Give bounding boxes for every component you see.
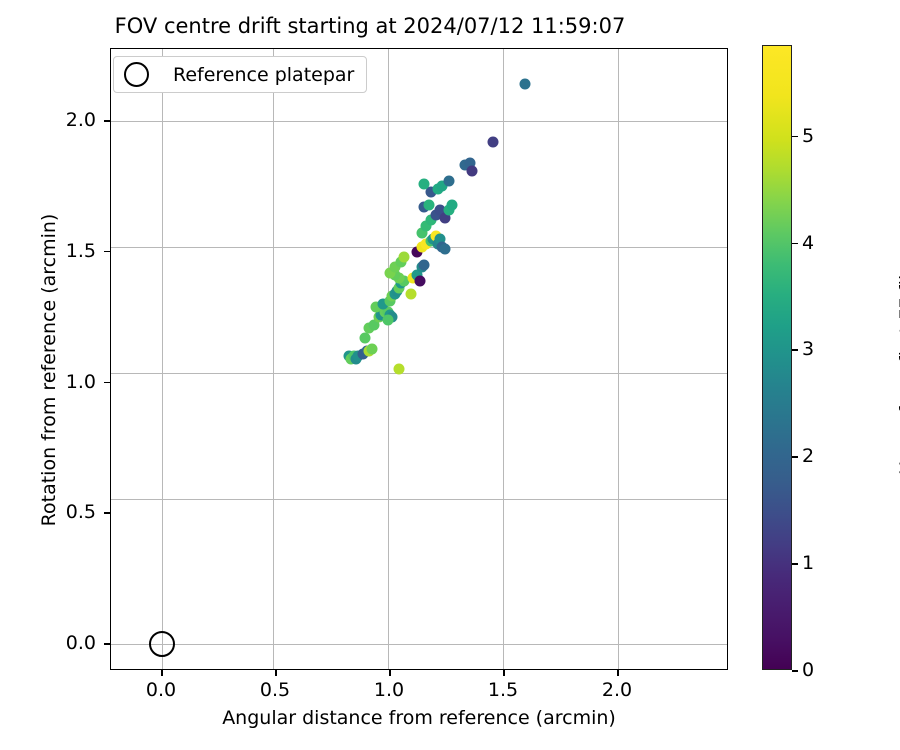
colorbar-tick-mark	[792, 563, 798, 565]
x-tick-mark	[389, 670, 391, 676]
scatter-point	[423, 199, 434, 210]
colorbar-tick-mark	[792, 456, 798, 458]
colorbar	[762, 45, 792, 670]
gridline-vertical	[273, 49, 274, 669]
scatter-point	[446, 199, 457, 210]
colorbar-tick-mark	[792, 670, 798, 672]
figure: FOV centre drift starting at 2024/07/12 …	[0, 0, 900, 750]
scatter-point	[366, 343, 377, 354]
scatter-point	[439, 244, 450, 255]
x-tick-label: 1.5	[488, 679, 518, 701]
colorbar-tick-mark	[792, 136, 798, 138]
gridline-horizontal	[111, 373, 727, 374]
legend-label: Reference platepar	[173, 64, 354, 86]
scatter-point	[398, 251, 409, 262]
x-tick-label: 0.0	[146, 679, 176, 701]
scatter-point	[487, 136, 498, 147]
gridline-vertical	[618, 49, 619, 669]
scatter-point	[519, 79, 530, 90]
scatter-point	[419, 259, 430, 270]
scatter-point	[405, 288, 416, 299]
gridline-horizontal	[111, 121, 727, 122]
x-tick-label: 2.0	[602, 679, 632, 701]
scatter-point	[467, 165, 478, 176]
scatter-point	[414, 275, 425, 286]
chart-title: FOV centre drift starting at 2024/07/12 …	[0, 14, 740, 38]
scatter-point	[359, 333, 370, 344]
gridline-horizontal	[111, 644, 727, 645]
x-tick-label: 1.0	[374, 679, 404, 701]
legend-open-circle-icon	[124, 62, 149, 87]
y-axis-title: Rotation from reference (arcmin)	[38, 59, 60, 681]
y-tick-mark	[104, 512, 110, 514]
scatter-point	[382, 314, 393, 325]
colorbar-tick-label: 4	[802, 232, 814, 254]
scatter-point	[419, 178, 430, 189]
gridline-vertical	[388, 49, 389, 669]
gridline-horizontal	[111, 499, 727, 500]
reference-platepar-marker	[149, 631, 175, 657]
colorbar-tick-label: 3	[802, 338, 814, 360]
x-axis-title: Angular distance from reference (arcmin)	[110, 707, 728, 729]
y-tick-mark	[104, 382, 110, 384]
legend: Reference platepar	[113, 56, 367, 93]
colorbar-title: Hours from first FF file	[896, 57, 900, 681]
colorbar-tick-mark	[792, 349, 798, 351]
colorbar-tick-label: 0	[802, 659, 814, 681]
gridline-vertical	[162, 49, 163, 669]
y-tick-mark	[104, 251, 110, 253]
x-tick-mark	[275, 670, 277, 676]
colorbar-tick-label: 1	[802, 552, 814, 574]
x-tick-label: 0.5	[260, 679, 290, 701]
y-axis-title-wrap: Rotation from reference (arcmin)	[0, 0, 100, 750]
y-tick-mark	[104, 643, 110, 645]
colorbar-tick-label: 2	[802, 445, 814, 467]
scatter-point	[444, 176, 455, 187]
x-tick-mark	[617, 670, 619, 676]
colorbar-tick-mark	[792, 243, 798, 245]
gridline-vertical	[503, 49, 504, 669]
x-tick-mark	[161, 670, 163, 676]
plot-area	[110, 48, 728, 670]
y-tick-mark	[104, 120, 110, 122]
scatter-point	[394, 364, 405, 375]
x-tick-mark	[503, 670, 505, 676]
colorbar-tick-label: 5	[802, 125, 814, 147]
